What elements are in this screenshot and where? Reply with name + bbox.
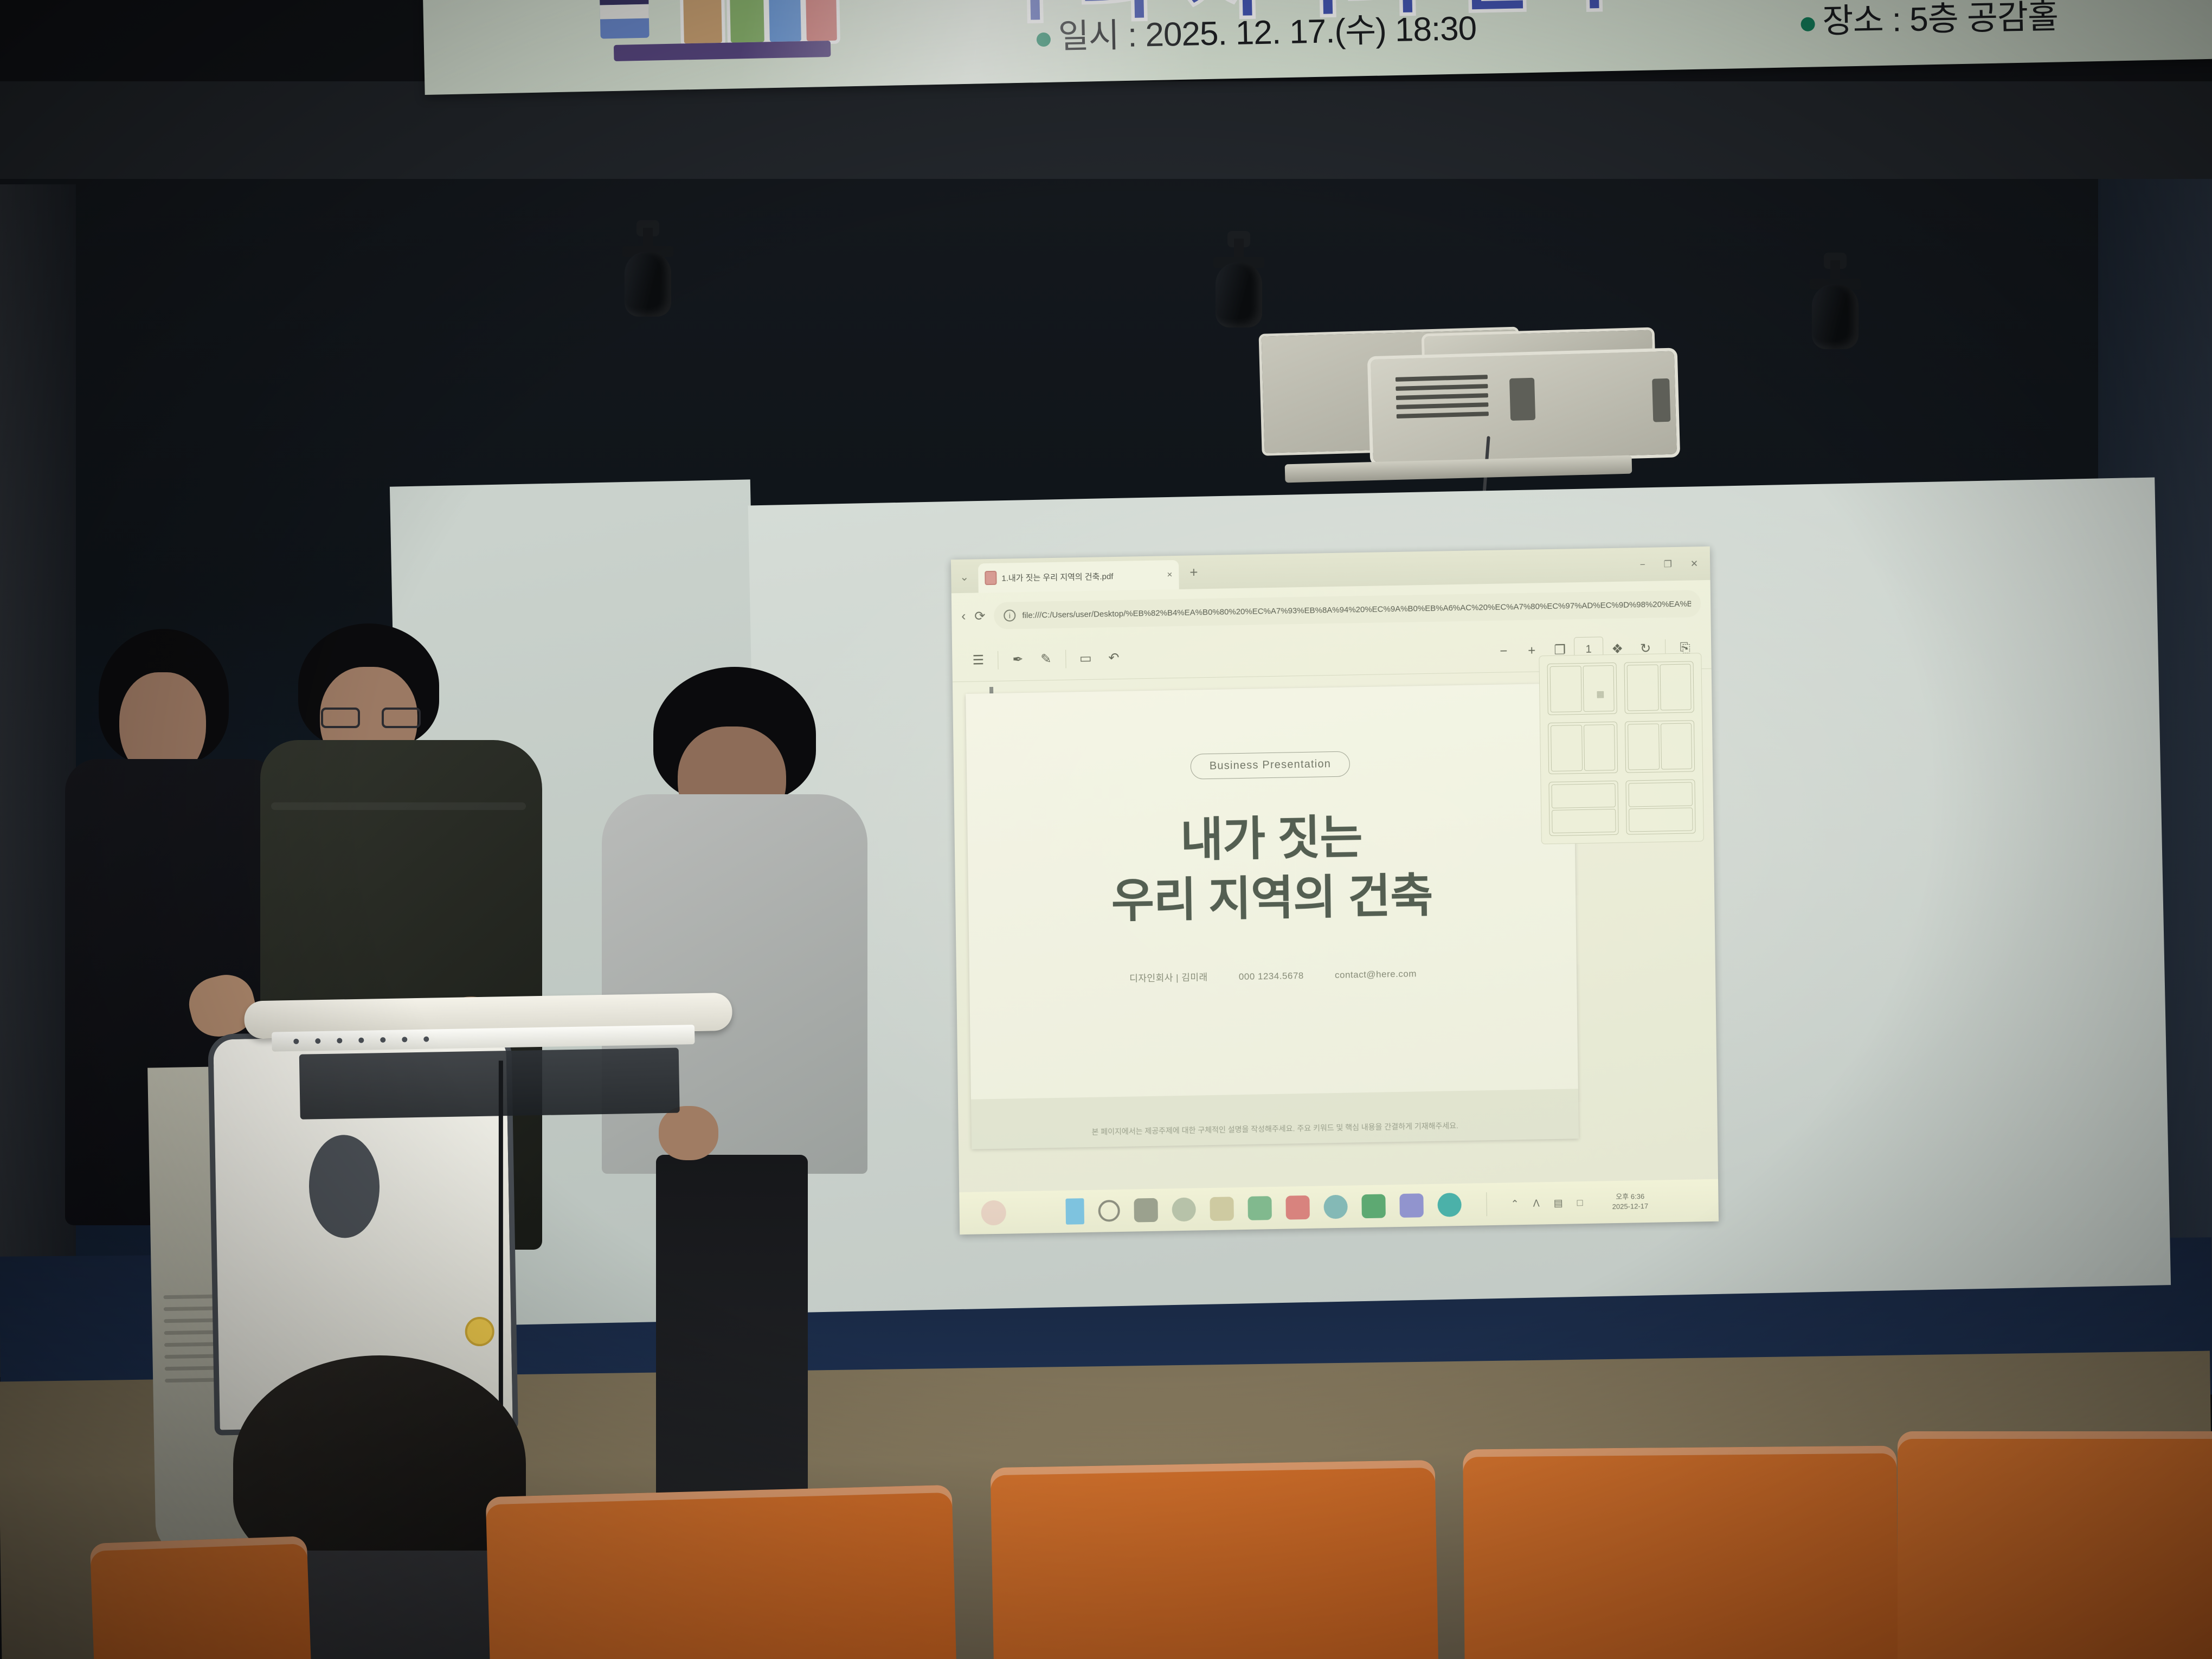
battery-icon[interactable]: □ — [1577, 1197, 1583, 1208]
window-controls[interactable]: − ❐ ✕ — [1640, 558, 1699, 570]
auditorium-seat — [90, 1536, 311, 1659]
stage-spotlight — [618, 228, 678, 309]
slide-title-line-2: 우리 지역의 건축 — [968, 863, 1576, 934]
sidebar-toggle-icon[interactable]: ☰ — [964, 647, 993, 673]
lectern-cutout — [308, 1134, 380, 1238]
minimize-icon[interactable]: − — [1640, 560, 1645, 570]
pdf-page[interactable]: Business Presentation 내가 짓는 우리 지역의 건축 디자… — [966, 683, 1579, 1149]
left-wall-pillar — [0, 184, 76, 1377]
taskbar-app-powerpoint[interactable] — [1285, 1195, 1310, 1220]
layout-option-split-even[interactable] — [1548, 722, 1618, 774]
ceiling-projector — [1261, 319, 1682, 477]
taskbar-app-store[interactable] — [1210, 1197, 1234, 1221]
layout-option-split-vertical[interactable] — [1547, 663, 1617, 715]
taskbar-app-excel[interactable] — [1248, 1196, 1272, 1220]
taskbar-app-chrome[interactable] — [1323, 1195, 1348, 1219]
slide-footer-band — [971, 1089, 1579, 1149]
layout-option-split-vertical-2[interactable] — [1624, 661, 1694, 713]
divider — [1486, 1192, 1487, 1216]
slide-contact-row: 디자인회사 | 김미래 000 1234.5678 contact@here.c… — [969, 963, 1577, 987]
taskbar-app-hancom[interactable] — [1361, 1194, 1386, 1218]
event-banner: 우리 지역의 건축 일시 : 2025. 12. 17.(수) 18:30 장소… — [423, 0, 2212, 95]
layout-option-split-uneven[interactable] — [1625, 720, 1695, 773]
auditorium-seat — [1898, 1431, 2212, 1659]
address-bar[interactable]: i file:///C:/Users/user/Desktop/%EB%82%B… — [994, 590, 1701, 629]
zoom-out-icon[interactable]: − — [1489, 639, 1518, 664]
taskbar-app-settings[interactable] — [1172, 1198, 1196, 1222]
taskbar-app-teams[interactable] — [1399, 1193, 1424, 1218]
grid-icon: ▦ — [1596, 689, 1604, 699]
undo-icon[interactable]: ↶ — [1099, 645, 1128, 671]
eraser-tool-icon[interactable]: ▭ — [1071, 646, 1100, 671]
taskbar-app-explorer[interactable] — [1134, 1198, 1158, 1223]
slide-phone: 000 1234.5678 — [1239, 970, 1304, 982]
browser-tab[interactable]: 1.내가 짓는 우리 지역의 건축.pdf × — [978, 560, 1179, 593]
chevron-down-icon[interactable]: ⌄ — [960, 570, 969, 584]
network-icon[interactable]: Ʌ — [1533, 1198, 1540, 1209]
auditorium-presentation-photo: 우리 지역의 건축 일시 : 2025. 12. 17.(수) 18:30 장소… — [0, 0, 2212, 1659]
volume-icon[interactable]: ▤ — [1554, 1197, 1563, 1208]
highlighter-tool-icon[interactable]: ✎ — [1032, 646, 1060, 672]
search-icon[interactable] — [1098, 1200, 1120, 1222]
clock-date: 2025-12-17 — [1612, 1201, 1649, 1212]
stage-spotlight — [1209, 239, 1269, 320]
slide-author: 디자인회사 | 김미래 — [1129, 972, 1208, 984]
layout-option-stacked-2[interactable] — [1625, 779, 1695, 834]
slide-title-line-1: 내가 짓는 — [967, 803, 1575, 874]
tab-layout-picker[interactable]: ▦ — [1539, 653, 1704, 844]
browser-window[interactable]: ⌄ 1.내가 짓는 우리 지역의 건축.pdf × + − ❐ ✕ ‹ ⟳ i … — [951, 546, 1719, 1234]
reload-icon[interactable]: ⟳ — [974, 608, 985, 624]
tab-title: 1.내가 짓는 우리 지역의 건축.pdf — [1001, 569, 1162, 583]
slide-title: 내가 짓는 우리 지역의 건축 — [967, 803, 1576, 934]
close-window-icon[interactable]: ✕ — [1690, 558, 1699, 569]
pdf-favicon — [985, 571, 996, 585]
new-tab-button[interactable]: + — [1189, 564, 1198, 581]
divider — [998, 651, 998, 669]
taskbar-app-edge[interactable] — [1437, 1193, 1462, 1217]
banner-glare — [423, 0, 2212, 95]
lectern-dark-panel — [299, 1048, 680, 1120]
close-icon[interactable]: × — [1167, 569, 1172, 580]
taskbar-app-list[interactable] — [1065, 1192, 1462, 1225]
divider — [1065, 650, 1066, 668]
start-button[interactable] — [981, 1200, 1006, 1226]
back-icon[interactable]: ‹ — [961, 609, 966, 624]
pen-tool-icon[interactable]: ✒ — [1004, 647, 1032, 672]
auditorium-seat — [486, 1485, 957, 1659]
taskbar-app-notepad[interactable] — [1065, 1198, 1084, 1225]
system-tray[interactable]: ⌃ Ʌ ▤ □ 오후 6:36 2025-12-17 — [1510, 1192, 1648, 1213]
auditorium-seat — [991, 1460, 1439, 1659]
url-text: file:///C:/Users/user/Desktop/%EB%82%B4%… — [1022, 599, 1691, 620]
slide-email: contact@here.com — [1335, 968, 1417, 980]
clock-time: 오후 6:36 — [1612, 1192, 1648, 1202]
show-hidden-icons-icon[interactable]: ⌃ — [1510, 1198, 1519, 1210]
slide-badge: Business Presentation — [1191, 751, 1351, 779]
layout-option-stacked[interactable] — [1548, 781, 1618, 836]
taskbar-clock[interactable]: 오후 6:36 2025-12-17 — [1612, 1192, 1648, 1211]
stage-spotlight — [1805, 260, 1865, 342]
maximize-icon[interactable]: ❐ — [1664, 559, 1673, 570]
glasses-icon — [321, 708, 421, 728]
lectern-emblem — [465, 1317, 494, 1347]
auditorium-seat — [1463, 1446, 1899, 1659]
site-info-icon[interactable]: i — [1004, 609, 1015, 621]
